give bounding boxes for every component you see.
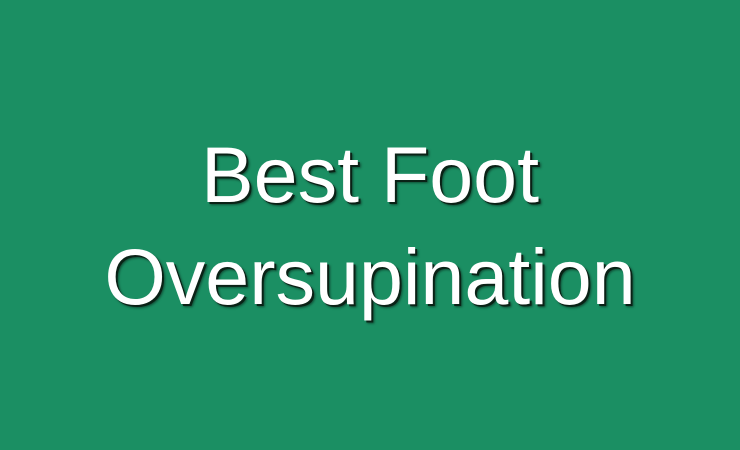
page-title: Best Foot Oversupination <box>0 123 740 328</box>
page-title-line-2: Oversupination <box>10 226 730 328</box>
page-title-line-1: Best Foot <box>10 124 730 226</box>
featured-image-banner: Best Foot Oversupination <box>0 0 740 450</box>
